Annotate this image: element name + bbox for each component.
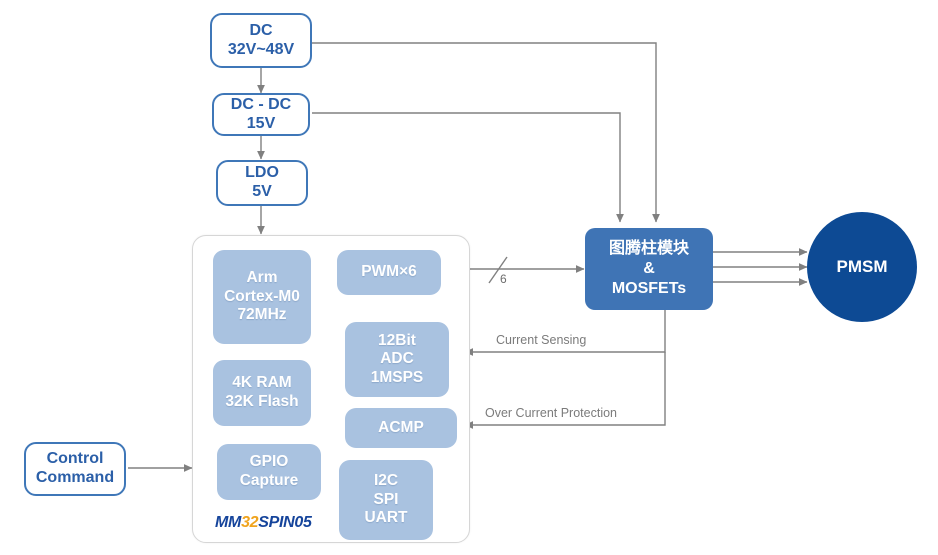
mcu-block-acmp[interactable]: ACMP — [345, 408, 457, 448]
dc-source-line2: 32V~48V — [228, 41, 294, 60]
acmp-line1: ACMP — [378, 419, 424, 438]
dc-dc-converter-box[interactable]: DC - DC 15V — [212, 93, 310, 136]
adc-line2: ADC — [380, 350, 414, 369]
pmsm-motor-circle[interactable]: PMSM — [807, 212, 917, 322]
control-command-line1: Control — [47, 450, 104, 469]
mm32spin05-logo: MM32SPIN05 — [215, 514, 312, 532]
bus-width-label: 6 — [500, 272, 507, 286]
block-diagram-canvas: DC 32V~48V DC - DC 15V LDO 5V Control Co… — [0, 0, 938, 555]
over-current-protection-label: Over Current Protection — [485, 406, 617, 420]
comms-line2: SPI — [374, 491, 399, 510]
dc-dc-line1: DC - DC — [231, 96, 291, 115]
control-command-box[interactable]: Control Command — [24, 442, 126, 496]
ldo-line2: 5V — [252, 183, 272, 202]
mcu-block-adc[interactable]: 12Bit ADC 1MSPS — [345, 322, 449, 397]
adc-line1: 12Bit — [378, 332, 416, 351]
dc-source-line1: DC — [249, 22, 272, 41]
logo-part-mm: MM — [215, 514, 241, 531]
cpu-core-line3: 72MHz — [237, 306, 286, 325]
mcu-block-cpu-core[interactable]: Arm Cortex-M0 72MHz — [213, 250, 311, 344]
power-stage-line1: 图腾柱模块 — [609, 239, 689, 259]
comms-line1: I2C — [374, 472, 398, 491]
power-stage-line3: MOSFETs — [612, 279, 686, 299]
logo-part-32: 32 — [241, 514, 258, 531]
adc-line3: 1MSPS — [371, 369, 424, 388]
cpu-core-line2: Cortex-M0 — [224, 288, 300, 307]
mcu-block-memory[interactable]: 4K RAM 32K Flash — [213, 360, 311, 426]
pwm-line1: PWM×6 — [361, 263, 417, 282]
power-stage-block[interactable]: 图腾柱模块 & MOSFETs — [585, 228, 713, 310]
mcu-block-gpio-capture[interactable]: GPIO Capture — [217, 444, 321, 500]
memory-line1: 4K RAM — [232, 374, 291, 393]
cpu-core-line1: Arm — [246, 269, 277, 288]
wire-dcdc-to-power-stage — [312, 113, 620, 222]
mcu-block-comms[interactable]: I2C SPI UART — [339, 460, 433, 540]
power-stage-line2: & — [643, 259, 655, 279]
gpio-capture-line2: Capture — [240, 472, 299, 491]
logo-part-spin05: SPIN05 — [258, 514, 311, 531]
comms-line3: UART — [364, 509, 407, 528]
ldo-line1: LDO — [245, 164, 279, 183]
wire-dc-to-power-stage — [312, 43, 656, 222]
ldo-regulator-box[interactable]: LDO 5V — [216, 160, 308, 206]
current-sensing-label: Current Sensing — [496, 333, 586, 347]
dc-dc-line2: 15V — [247, 115, 275, 134]
gpio-capture-line1: GPIO — [250, 453, 289, 472]
dc-source-box[interactable]: DC 32V~48V — [210, 13, 312, 68]
mcu-block-pwm[interactable]: PWM×6 — [337, 250, 441, 295]
pmsm-label: PMSM — [837, 257, 888, 277]
mcu-container: Arm Cortex-M0 72MHz 4K RAM 32K Flash GPI… — [192, 235, 470, 543]
memory-line2: 32K Flash — [225, 393, 298, 412]
control-command-line2: Command — [36, 469, 114, 488]
